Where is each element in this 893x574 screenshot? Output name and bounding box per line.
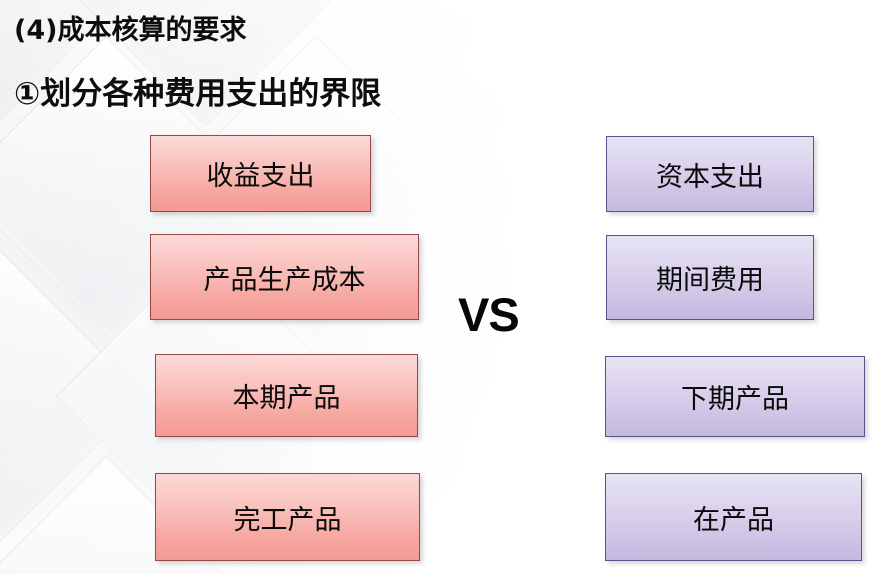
- right-box-1-label: 资本支出: [656, 155, 764, 194]
- left-box-4-label: 完工产品: [234, 498, 342, 537]
- left-box-4[interactable]: 完工产品: [155, 473, 420, 561]
- right-box-4-label: 在产品: [693, 498, 774, 537]
- page-title: (4)成本核算的要求: [14, 8, 246, 47]
- right-box-3-label: 下期产品: [681, 377, 789, 416]
- right-box-4[interactable]: 在产品: [605, 473, 862, 561]
- right-box-1[interactable]: 资本支出: [606, 136, 814, 212]
- left-box-1[interactable]: 收益支出: [150, 135, 371, 212]
- left-box-2[interactable]: 产品生产成本: [150, 234, 419, 320]
- right-box-3[interactable]: 下期产品: [605, 356, 865, 437]
- left-box-3-label: 本期产品: [233, 376, 341, 415]
- right-box-2-label: 期间费用: [656, 258, 764, 297]
- slide-canvas: (4)成本核算的要求 ①划分各种费用支出的界限 VS 收益支出 产品生产成本 本…: [0, 0, 893, 574]
- vs-comparator-label: VS: [458, 291, 519, 338]
- left-box-3[interactable]: 本期产品: [155, 354, 418, 437]
- left-box-2-label: 产品生产成本: [204, 258, 366, 297]
- right-box-2[interactable]: 期间费用: [606, 235, 814, 320]
- page-subtitle: ①划分各种费用支出的界限: [14, 68, 381, 113]
- left-box-1-label: 收益支出: [207, 154, 315, 193]
